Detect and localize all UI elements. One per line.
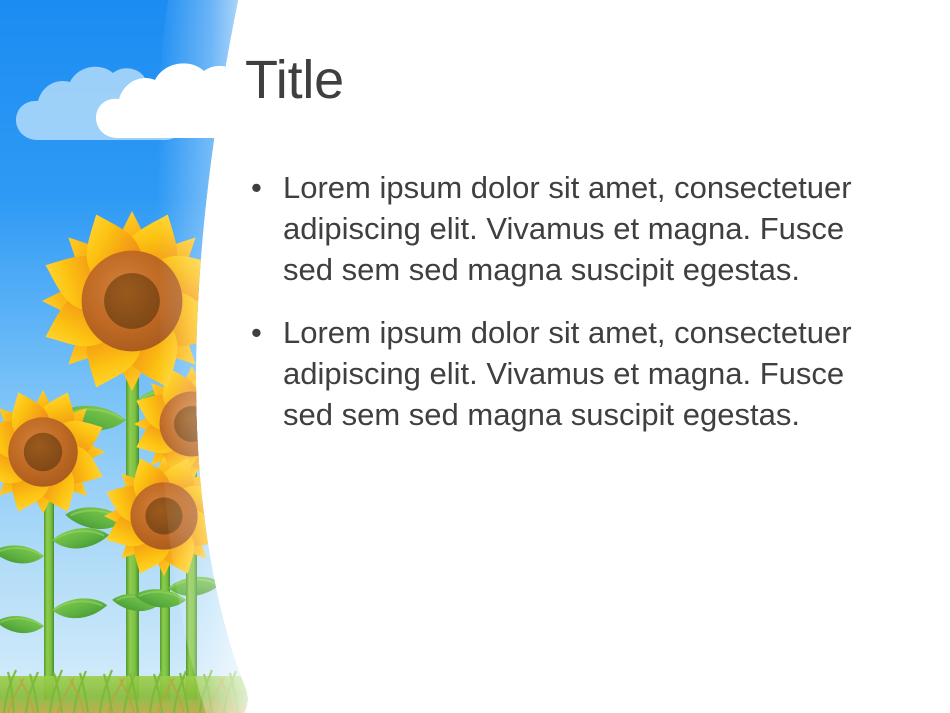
leaf-left-lower: [52, 598, 107, 618]
leaf-edge-left: [131, 508, 186, 528]
leaf-main-left: [58, 406, 126, 430]
bullet-text: Lorem ipsum dolor sit amet, consectetuer…: [283, 313, 883, 436]
leaf-center-right: [168, 577, 221, 596]
leaf-center-left: [112, 594, 160, 611]
page-title[interactable]: Title: [245, 52, 344, 109]
sunflower-left: [0, 368, 127, 536]
stem-center: [160, 520, 170, 700]
list-item[interactable]: • Lorem ipsum dolor sit amet, consectetu…: [243, 168, 883, 291]
leaf-left-upper: [52, 528, 109, 548]
list-item[interactable]: • Lorem ipsum dolor sit amet, consectetu…: [243, 313, 883, 436]
slide-content: Title • Lorem ipsum dolor sit amet, cons…: [243, 0, 933, 713]
leaf-main-left-2: [65, 507, 126, 529]
cloud-back: [16, 67, 186, 140]
panel-edge-highlight: [157, 0, 247, 713]
leaf-left-lower-mirror: [0, 616, 44, 633]
sunflower-center: [82, 434, 245, 597]
slide-canvas: Title • Lorem ipsum dolor sit amet, cons…: [0, 0, 950, 713]
sunflower-large: [10, 179, 255, 424]
plant-edge: [131, 430, 197, 700]
plant-center: [112, 520, 221, 700]
stem-left: [44, 455, 54, 700]
leaf-left-upper-mirror: [0, 545, 44, 563]
plant-main: [58, 300, 209, 700]
stem-main: [126, 300, 139, 700]
bullet-marker-icon: •: [251, 313, 262, 354]
leaf-edge-left-2: [134, 589, 186, 607]
plant-left: [0, 455, 109, 700]
stem-edge: [186, 430, 197, 700]
bullet-marker-icon: •: [251, 168, 262, 209]
bullet-text: Lorem ipsum dolor sit amet, consectetuer…: [283, 168, 883, 291]
leaf-main-right-2: [137, 486, 201, 509]
leaf-main-right: [137, 385, 209, 411]
bullet-list: • Lorem ipsum dolor sit amet, consectetu…: [243, 168, 883, 457]
